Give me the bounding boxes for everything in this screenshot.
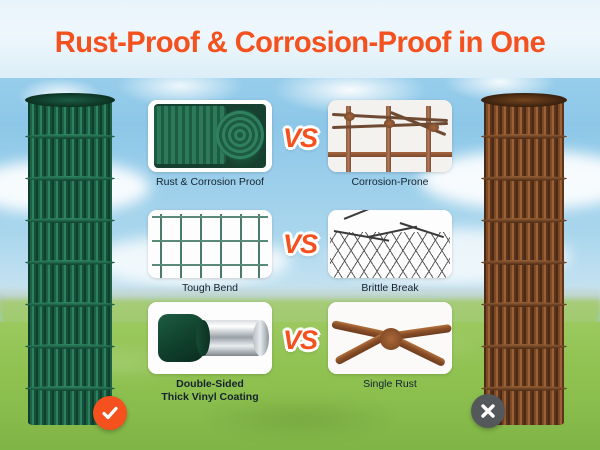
check-badge: [93, 396, 127, 430]
rusty-wire-arm: [393, 324, 452, 340]
roll-band: [25, 344, 115, 349]
bad-caption: Brittle Break: [320, 282, 460, 295]
bad-image-card: [328, 210, 452, 278]
roll-band: [481, 302, 567, 307]
good-image-card: [148, 210, 272, 278]
bad-caption: Single Rust: [320, 378, 460, 391]
barbed-wire-photo: [328, 100, 452, 172]
chain-link-pattern: [330, 232, 450, 278]
roll-band: [481, 344, 567, 349]
x-badge: [471, 394, 505, 428]
roll-top-cap: [25, 93, 115, 107]
vs-badge: VS: [274, 224, 326, 264]
comparison-panel: Rust & Corrosion Proof VS Corrosion-Pron…: [140, 100, 460, 400]
intact-wire-grid: [148, 210, 272, 278]
wire-mesh-roll-photo: [148, 100, 272, 172]
bad-image-card: [328, 100, 452, 172]
roll-band: [25, 134, 115, 139]
grid-wire-vertical: [258, 214, 260, 278]
grid-wire-vertical: [180, 214, 182, 278]
vs-badge: VS: [274, 118, 326, 158]
roll-band: [25, 260, 115, 265]
rusty-wire-arm: [394, 336, 446, 367]
roll-band: [25, 218, 115, 223]
bad-image-card: [328, 302, 452, 374]
green-wire-roll: [28, 100, 112, 425]
roll-band: [25, 176, 115, 181]
grid-wire-horizontal: [152, 240, 268, 242]
mesh-roll-illustration: [154, 104, 266, 168]
grid-wire-vertical: [240, 214, 242, 278]
close-icon: [479, 402, 497, 420]
grid-wire-horizontal: [152, 216, 268, 218]
broken-mesh-illustration: [328, 210, 452, 278]
vinyl-sleeve: [158, 314, 206, 362]
roll-top-cap: [481, 93, 567, 107]
good-caption: Double-Sided Thick Vinyl Coating: [140, 378, 280, 403]
break-line: [344, 210, 376, 220]
roll-band: [481, 176, 567, 181]
check-icon: [100, 403, 120, 423]
grid-wire-vertical: [160, 214, 162, 278]
roll-band: [481, 260, 567, 265]
rusty-knot-core: [380, 328, 402, 350]
barb-knot: [344, 112, 355, 121]
grid-wire-vertical: [200, 214, 202, 278]
grid-wire-horizontal: [152, 264, 268, 266]
page-title: Rust-Proof & Corrosion-Proof in One: [9, 26, 591, 60]
bad-caption: Corrosion-Prone: [320, 176, 460, 189]
infographic-canvas: Rust-Proof & Corrosion-Proof in One: [0, 0, 600, 450]
roll-band: [481, 218, 567, 223]
roll-band: [481, 134, 567, 139]
rusty-knot-photo: [328, 302, 452, 374]
comparison-row: Double-Sided Thick Vinyl Coating VS Sing…: [140, 302, 460, 400]
comparison-row: Rust & Corrosion Proof VS Corrosion-Pron…: [140, 100, 460, 210]
fence-post: [426, 106, 431, 172]
comparison-row: Tough Bend VS Brittle Break: [140, 210, 460, 302]
rusty-wire-roll: [484, 100, 564, 425]
vs-badge: VS: [274, 320, 326, 360]
good-caption: Rust & Corrosion Proof: [140, 176, 280, 189]
roll-band: [25, 302, 115, 307]
barb-knot: [384, 119, 395, 128]
barb-knot: [428, 123, 439, 132]
roll-band: [25, 386, 115, 391]
good-image-card: [148, 302, 272, 374]
good-caption: Tough Bend: [140, 282, 280, 295]
grid-wire-vertical: [220, 214, 222, 278]
roll-band: [481, 386, 567, 391]
good-image-card: [148, 100, 272, 172]
vinyl-coating-cutaway: [148, 302, 272, 374]
